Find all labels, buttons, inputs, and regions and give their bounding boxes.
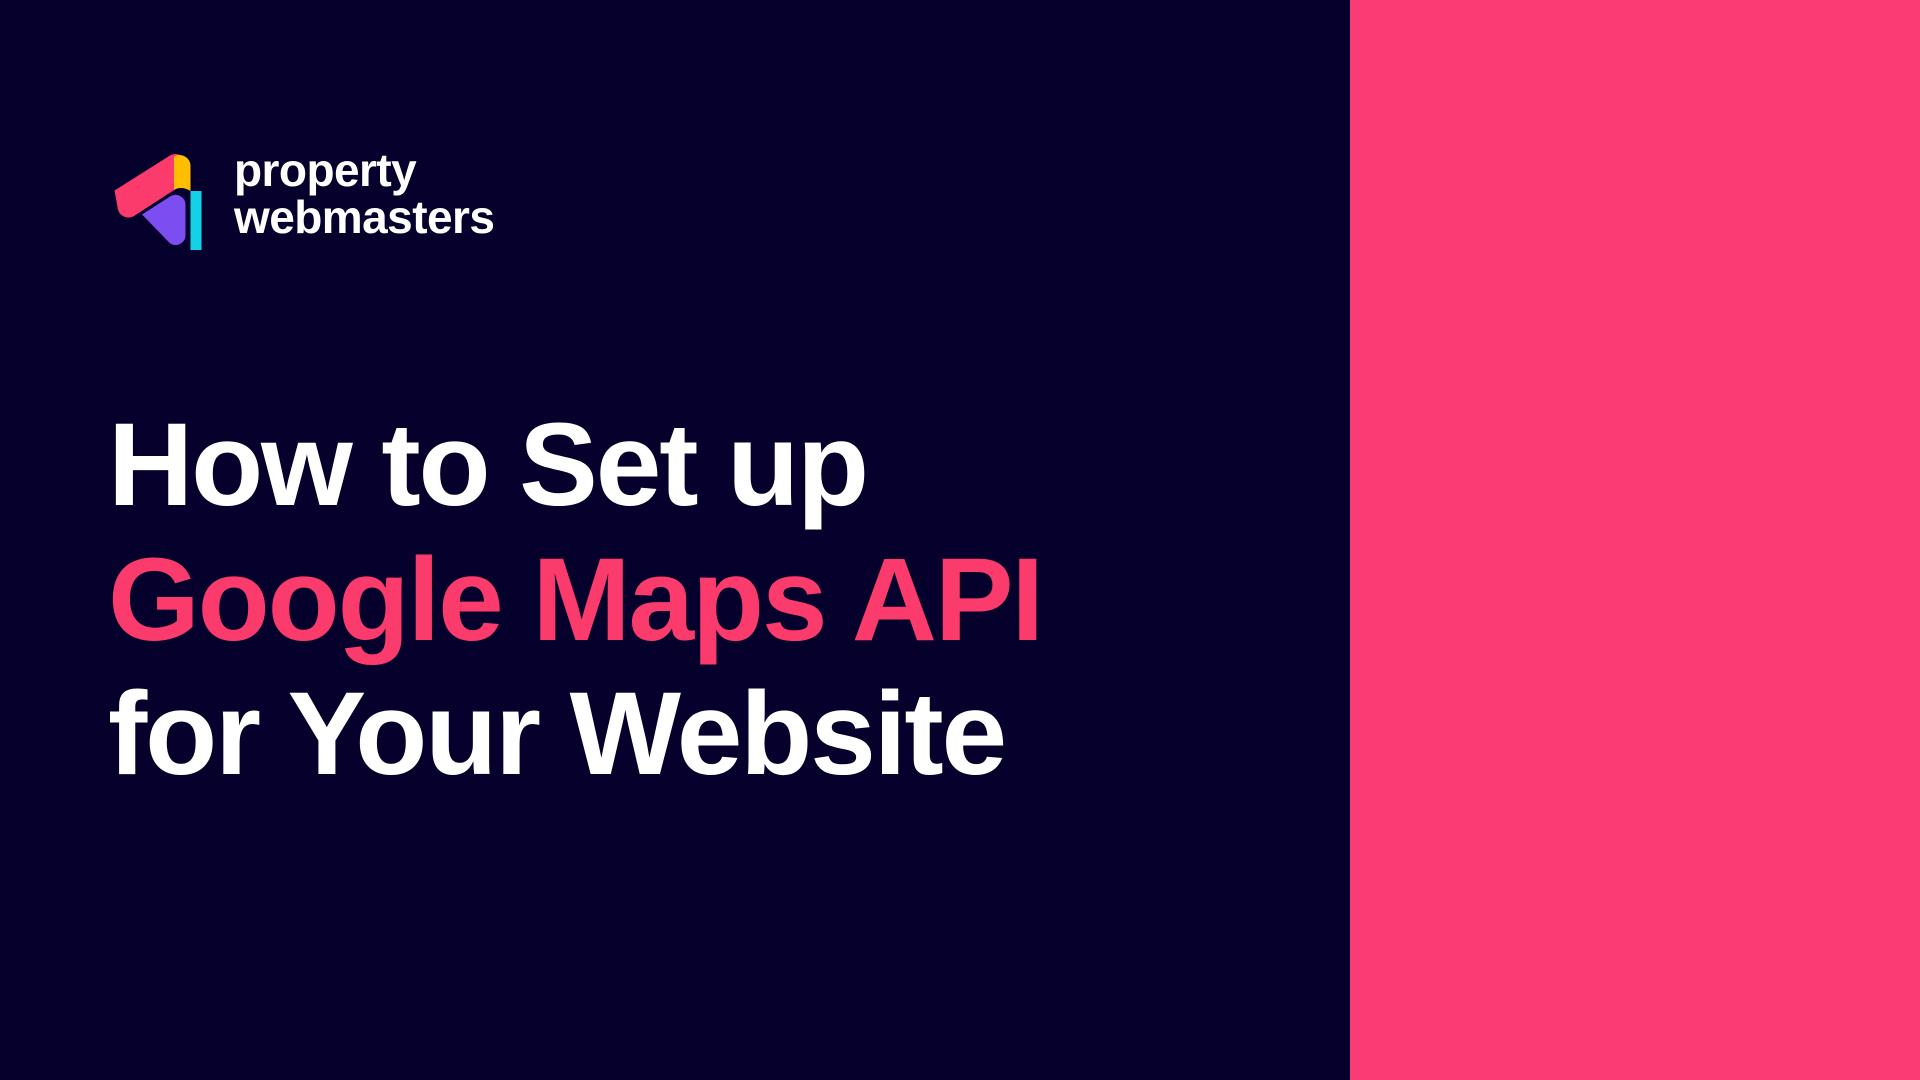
headline-line-3: for Your Website: [108, 667, 1268, 802]
accent-panel: [1350, 0, 1920, 1080]
page-title: How to Set up Google Maps API for Your W…: [108, 398, 1268, 802]
content-panel: property webmasters How to Set up Google…: [0, 0, 1350, 1080]
brand-wordmark: property webmasters: [234, 147, 494, 241]
brand-name-line-1: property: [234, 147, 494, 194]
play-triangle-logo-icon: [108, 138, 212, 250]
brand-lockup[interactable]: property webmasters: [108, 138, 494, 250]
headline-line-1: How to Set up: [108, 398, 1268, 533]
brand-name-line-2: webmasters: [234, 194, 494, 241]
slide-canvas: property webmasters How to Set up Google…: [0, 0, 1920, 1080]
headline-line-2: Google Maps API: [108, 533, 1268, 668]
